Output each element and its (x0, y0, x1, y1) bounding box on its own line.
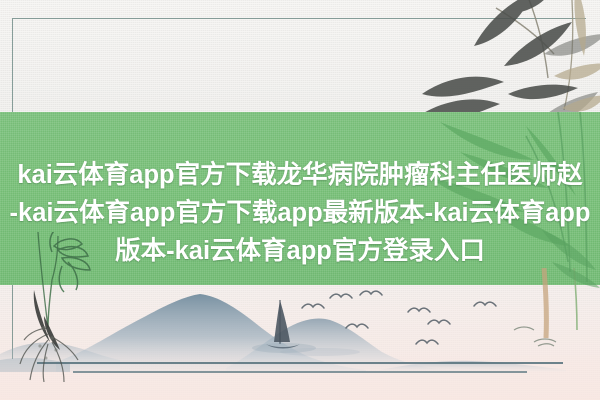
banner-line-1: kai云体育app官方下载龙华病院肿瘤科主任医师赵 (0, 156, 600, 194)
banner-image: kai云体育app官方下载龙华病院肿瘤科主任医师赵 -kai云体育app官方下载… (0, 0, 600, 400)
banner-text-block: kai云体育app官方下载龙华病院肿瘤科主任医师赵 -kai云体育app官方下载… (0, 156, 600, 270)
horizontal-rule-lower (73, 371, 527, 373)
banner-line-3: 版本-kai云体育app官方登录入口 (0, 232, 600, 270)
horizontal-rule-upper (37, 362, 563, 364)
banner-line-2: -kai云体育app官方下载app最新版本-kai云体育app (0, 194, 600, 232)
